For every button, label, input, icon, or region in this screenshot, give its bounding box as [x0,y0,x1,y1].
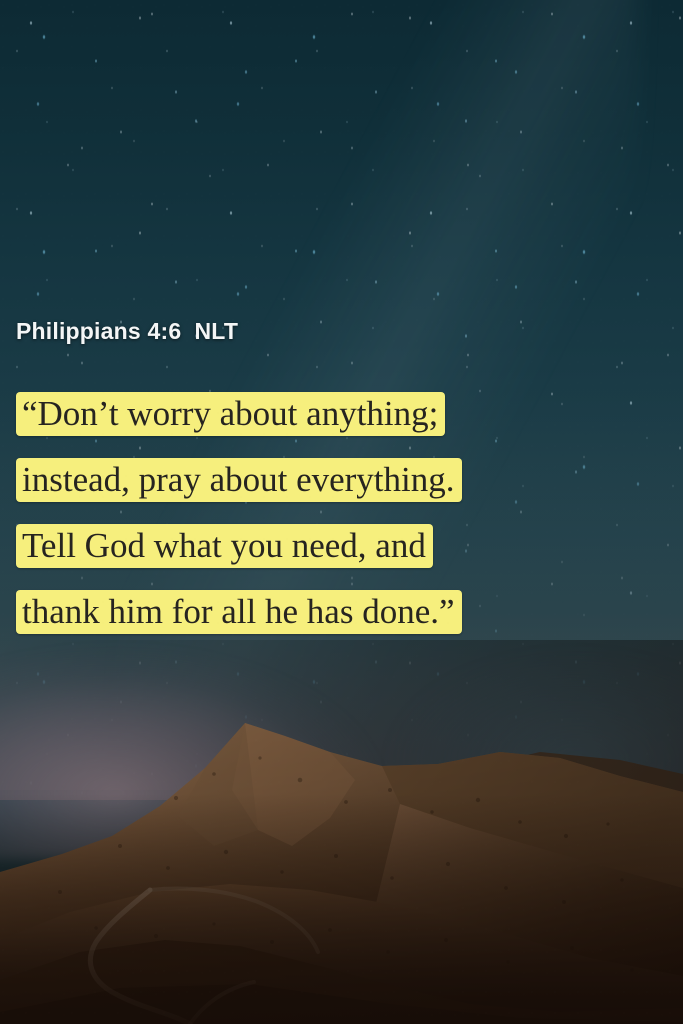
verse-reference: Philippians 4:6 NLT [16,318,238,345]
verse-line: instead, pray about everything. [16,458,462,502]
mountain-ridge [0,640,683,1024]
verse-line: Tell God what you need, and [16,524,433,568]
verse-line: “Don’t worry about anything; [16,392,445,436]
verse-line: thank him for all he has done.” [16,590,462,634]
verse-image-canvas: Philippians 4:6 NLT “Don’t worry about a… [0,0,683,1024]
verse-text-block: “Don’t worry about anything; instead, pr… [16,392,656,656]
